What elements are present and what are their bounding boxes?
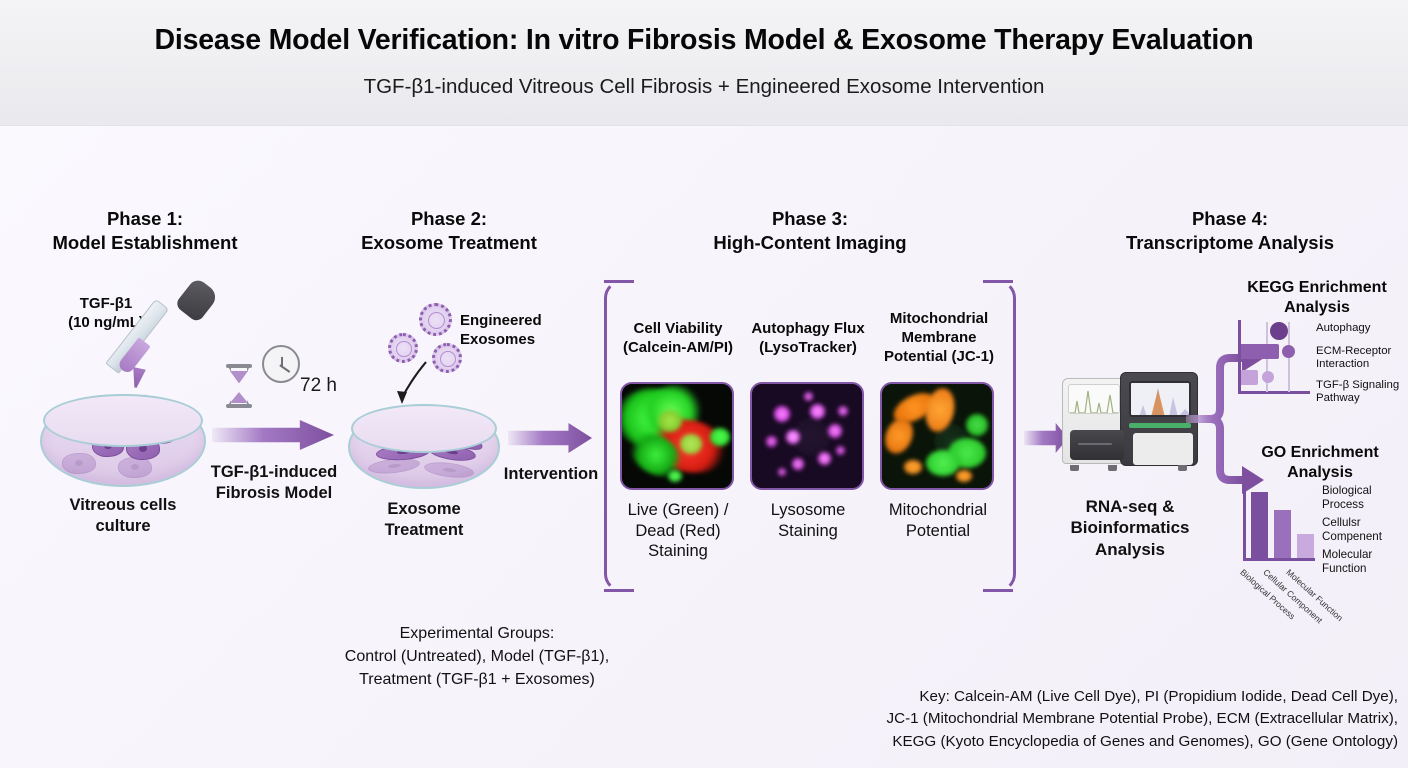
page-title: Disease Model Verification: In vitro Fib…	[0, 24, 1408, 57]
dropper-icon	[138, 282, 214, 398]
phase3-assay-1-label: Cell Viability (Calcein-AM/PI)	[618, 320, 738, 358]
panel-2-caption-line2: Staining	[742, 521, 874, 542]
experimental-groups-note: Experimental Groups: Control (Untreated)…	[242, 622, 712, 692]
kegg-legend-label: TGF-β Signaling Pathway	[1316, 379, 1399, 404]
assay-3-line1: Mitochondrial	[874, 310, 1004, 329]
arrow-phase2-to-phase3	[508, 423, 592, 453]
phase3-panel-3-caption: Mitochondrial Potential	[872, 500, 1004, 541]
sequencer-instrument-icon	[1062, 372, 1198, 472]
go-legend-item-cc: Cellulsr Compenent	[1322, 516, 1408, 543]
panel-1-caption-line1: Live (Green) /	[612, 500, 744, 521]
exp-groups-line2: Control (Untreated), Model (TGF-β1),	[242, 645, 712, 668]
go-title-line2: Analysis	[1235, 463, 1405, 483]
dish-rim	[43, 394, 202, 447]
exosome-icon	[388, 333, 418, 363]
exosome-uptake-arrow	[382, 360, 442, 408]
sequencer-lower-panel	[1133, 433, 1193, 465]
go-bar	[1251, 492, 1268, 558]
kegg-legend-item-tgfb: TGF-β Signaling Pathway	[1316, 379, 1408, 406]
exosome-label-line1: Engineered	[460, 312, 570, 331]
phase3-assay-3-label: Mitochondrial Membrane Potential (JC-1)	[874, 310, 1004, 366]
panel-1-caption-line2: Dead (Red)	[612, 521, 744, 542]
phase1-dish-caption: Vitreous cells culture	[43, 495, 203, 536]
kegg-title-line2: Analysis	[1232, 298, 1402, 318]
kegg-legend-label: Autophagy	[1316, 322, 1370, 334]
phase3-title: Phase 3: High-Content Imaging	[672, 207, 948, 254]
kegg-chart-title: KEGG Enrichment Analysis	[1232, 278, 1402, 318]
phase1-arrow-label-line1: TGF-β1-induced	[195, 462, 353, 483]
kegg-enrichment-chart	[1238, 320, 1310, 394]
petri-dish-vitreous-cells	[40, 395, 206, 487]
exosome-label-line2: Exosomes	[460, 331, 570, 350]
phase1-dish-caption-line2: culture	[43, 516, 203, 537]
go-chart-title: GO Enrichment Analysis	[1235, 443, 1405, 483]
panel-2-caption-line1: Lysosome	[742, 500, 874, 521]
kegg-bar	[1241, 344, 1279, 359]
assay-1-line2: (Calcein-AM/PI)	[618, 339, 738, 358]
assay-3-line2: Membrane	[874, 329, 1004, 348]
phase3-title-line2: High-Content Imaging	[672, 231, 948, 255]
cell	[62, 453, 96, 474]
arrow-phase1-to-phase2	[212, 420, 334, 450]
kegg-bubble	[1270, 322, 1288, 340]
phase2-title: Phase 2: Exosome Treatment	[330, 207, 568, 254]
kegg-bar	[1241, 370, 1258, 385]
micrograph-autophagy-flux[interactable]	[750, 382, 864, 490]
sequencer-left-screen	[1068, 384, 1120, 414]
instrument-caption-line3: Analysis	[1048, 539, 1212, 560]
kegg-bubble	[1262, 371, 1274, 383]
phase3-panel-2-caption: Lysosome Staining	[742, 500, 874, 541]
assay-1-line1: Cell Viability	[618, 320, 738, 339]
phase3-panel-1-caption: Live (Green) / Dead (Red) Staining	[612, 500, 744, 562]
kegg-bubble	[1282, 345, 1295, 358]
go-title-line1: GO Enrichment	[1235, 443, 1405, 463]
incubation-duration-label: 72 h	[300, 375, 337, 397]
exosome-icon	[419, 303, 452, 336]
cell	[118, 457, 152, 478]
exp-groups-line1: Experimental Groups:	[242, 622, 712, 645]
petri-dish-exosome-treatment	[348, 405, 500, 489]
kegg-title-line1: KEGG Enrichment	[1232, 278, 1402, 298]
go-legend-item-bp: Biological Process	[1322, 484, 1408, 511]
phase1-title-line1: Phase 1:	[20, 207, 270, 231]
instrument-caption-line2: Bioinformatics	[1048, 517, 1212, 538]
sequencer-drawer	[1070, 430, 1124, 460]
clock-icon	[262, 345, 300, 383]
go-bar	[1274, 510, 1291, 558]
panel-3-caption-line2: Potential	[872, 521, 1004, 542]
dish-rim	[351, 404, 497, 453]
assay-2-line2: (LysoTracker)	[748, 339, 868, 358]
phase3-title-line1: Phase 3:	[672, 207, 948, 231]
assay-2-line1: Autophagy Flux	[748, 320, 868, 339]
dropper-bulb	[174, 277, 220, 324]
kegg-x-axis	[1238, 391, 1310, 394]
go-y-axis	[1243, 485, 1246, 561]
hourglass-icon	[226, 364, 252, 408]
header-band	[0, 0, 1408, 126]
panel-3-caption-line1: Mitochondrial	[872, 500, 1004, 521]
go-x-axis	[1243, 558, 1315, 561]
assay-3-line3: Potential (JC-1)	[874, 348, 1004, 367]
go-legend-label: Biological Process	[1322, 484, 1372, 511]
phase1-arrow-label-line2: Fibrosis Model	[195, 483, 353, 504]
phase2-dish-caption-line1: Exosome	[348, 499, 500, 520]
micrograph-cell-viability[interactable]	[620, 382, 734, 490]
phase2-dish-caption-line2: Treatment	[348, 520, 500, 541]
phase4-title: Phase 4: Transcriptome Analysis	[1085, 207, 1375, 254]
sequencer-drawer-handle	[1078, 443, 1112, 445]
kegg-legend-label: ECM-Receptor Interaction	[1316, 345, 1391, 370]
phase3-assay-2-label: Autophagy Flux (LysoTracker)	[748, 320, 868, 358]
phase2-dish-caption: Exosome Treatment	[348, 499, 500, 540]
phase1-title-line2: Model Establishment	[20, 231, 270, 255]
abbreviation-key-note: Key: Calcein-AM (Live Cell Dye), PI (Pro…	[560, 686, 1398, 753]
key-line2: JC-1 (Mitochondrial Membrane Potential P…	[560, 708, 1398, 730]
phase4-title-line1: Phase 4:	[1085, 207, 1375, 231]
go-legend-item-mf: Molecular Function	[1322, 548, 1408, 575]
phase1-arrow-label: TGF-β1-induced Fibrosis Model	[195, 462, 353, 503]
sequencer-display	[1129, 381, 1191, 417]
phase4-title-line2: Transcriptome Analysis	[1085, 231, 1375, 255]
go-legend-label: Cellulsr Compenent	[1322, 516, 1382, 543]
kegg-legend-item-autophagy: Autophagy	[1316, 322, 1408, 335]
sequencer-status-light	[1129, 423, 1191, 428]
phase1-title: Phase 1: Model Establishment	[20, 207, 270, 254]
phase2-title-line1: Phase 2:	[330, 207, 568, 231]
key-line1: Key: Calcein-AM (Live Cell Dye), PI (Pro…	[560, 686, 1398, 708]
page-subtitle: TGF-β1-induced Vitreous Cell Fibrosis + …	[0, 75, 1408, 99]
engineered-exosomes-label: Engineered Exosomes	[460, 312, 570, 350]
go-bar	[1297, 534, 1314, 558]
phase2-arrow-label: Intervention	[492, 464, 610, 485]
go-legend-label: Molecular Function	[1322, 548, 1372, 575]
micrograph-mitochondrial-potential[interactable]	[880, 382, 994, 490]
go-enrichment-chart: Biological Process Cellular Component Mo…	[1243, 485, 1315, 561]
phase1-dish-caption-line1: Vitreous cells	[43, 495, 203, 516]
panel-1-caption-line3: Staining	[612, 541, 744, 562]
phase2-title-line2: Exosome Treatment	[330, 231, 568, 255]
key-line3: KEGG (Kyoto Encyclopedia of Genes and Ge…	[560, 731, 1398, 753]
kegg-legend-item-ecm: ECM-Receptor Interaction	[1316, 345, 1408, 372]
